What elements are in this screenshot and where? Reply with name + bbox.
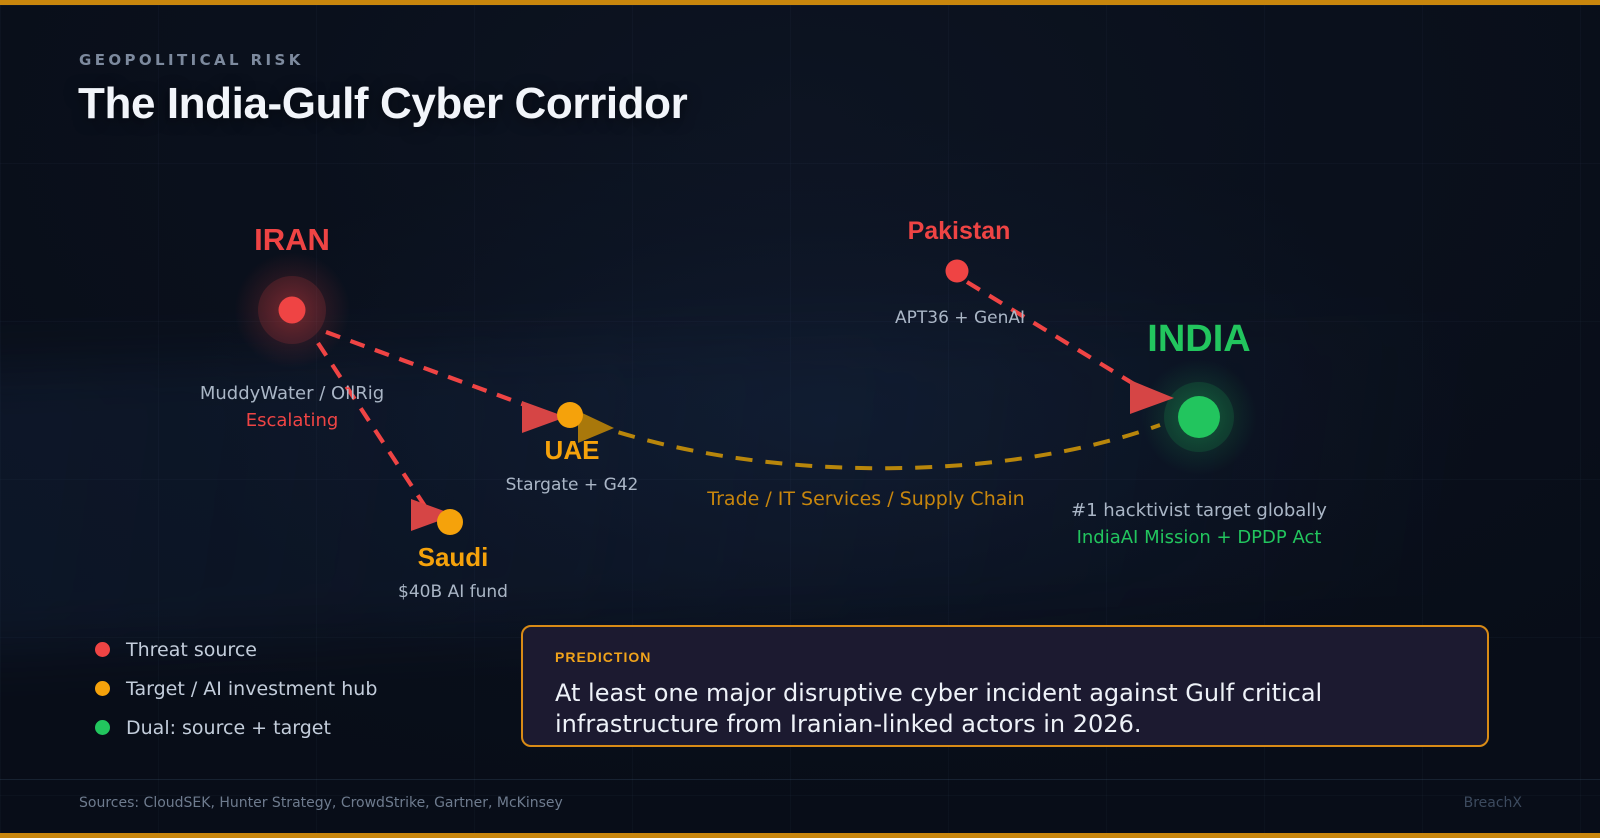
- node-meta-pakistan: APT36 + GenAI: [895, 308, 1025, 328]
- node-label-pakistan: Pakistan: [908, 217, 1011, 246]
- node-meta-india: #1 hacktivist target globally IndiaAI Mi…: [1071, 500, 1327, 548]
- node-label-india: INDIA: [1147, 318, 1250, 361]
- node-dot-saudi[interactable]: [437, 509, 463, 535]
- node-sub-pakistan: APT36 + GenAI: [895, 308, 1025, 328]
- legend-item-target-hub: Target / AI investment hub: [95, 669, 377, 708]
- legend-label-target-hub: Target / AI investment hub: [126, 678, 377, 700]
- node-note-india: IndiaAI Mission + DPDP Act: [1071, 527, 1327, 548]
- background-sheen: [0, 301, 1600, 653]
- prediction-kicker: PREDICTION: [555, 649, 1457, 665]
- flow-pakistan-india: [967, 282, 1174, 414]
- node-dot-iran[interactable]: [279, 297, 306, 324]
- prediction-callout: PREDICTION At least one major disruptive…: [521, 625, 1489, 747]
- node-dot-uae[interactable]: [557, 402, 583, 428]
- legend-dot-icon-red: [95, 642, 110, 657]
- slide-canvas: GEOPOLITICAL RISK The India-Gulf Cyber C…: [0, 0, 1600, 838]
- prediction-body: At least one major disruptive cyber inci…: [555, 678, 1457, 739]
- page-title: The India-Gulf Cyber Corridor: [78, 79, 687, 129]
- legend-label-dual: Dual: source + target: [126, 717, 331, 739]
- node-note-iran: Escalating: [200, 410, 384, 431]
- node-name-iran: IRAN: [254, 222, 330, 258]
- legend-item-threat-source: Threat source: [95, 630, 377, 669]
- iran-halo: [234, 252, 350, 368]
- node-dot-india[interactable]: [1178, 396, 1220, 438]
- legend-label-threat-source: Threat source: [126, 639, 257, 661]
- legend-dot-icon-orange: [95, 681, 110, 696]
- node-dot-pakistan[interactable]: [946, 260, 969, 283]
- legend-item-dual: Dual: source + target: [95, 708, 377, 747]
- node-label-iran: IRAN: [254, 222, 330, 258]
- india-halo: [1141, 359, 1257, 475]
- legend-dot-icon-green: [95, 720, 110, 735]
- node-name-india: INDIA: [1147, 318, 1250, 361]
- legend: Threat source Target / AI investment hub…: [95, 630, 377, 747]
- flow-uae-india-trade: [578, 411, 1160, 468]
- trade-corridor-text: Trade / IT Services / Supply Chain: [707, 488, 1024, 510]
- node-sub-iran: MuddyWater / OilRig: [200, 383, 384, 404]
- node-meta-iran: MuddyWater / OilRig Escalating: [200, 383, 384, 431]
- node-sub-saudi: $40B AI fund: [398, 582, 508, 602]
- node-sub-uae: Stargate + G42: [506, 475, 639, 495]
- kicker-label: GEOPOLITICAL RISK: [79, 51, 304, 69]
- node-name-saudi: Saudi: [398, 542, 508, 573]
- trade-corridor-label: Trade / IT Services / Supply Chain: [707, 488, 1024, 510]
- node-name-pakistan: Pakistan: [908, 217, 1011, 246]
- node-sub-india: #1 hacktivist target globally: [1071, 500, 1327, 521]
- node-name-uae: UAE: [506, 435, 639, 466]
- brand-label: BreachX: [1464, 795, 1522, 811]
- node-label-saudi: Saudi $40B AI fund: [398, 542, 508, 602]
- node-label-uae: UAE Stargate + G42: [506, 435, 639, 495]
- flow-iran-saudi: [318, 343, 455, 531]
- footer-divider: [0, 779, 1600, 780]
- sources-label: Sources: CloudSEK, Hunter Strategy, Crow…: [79, 795, 563, 811]
